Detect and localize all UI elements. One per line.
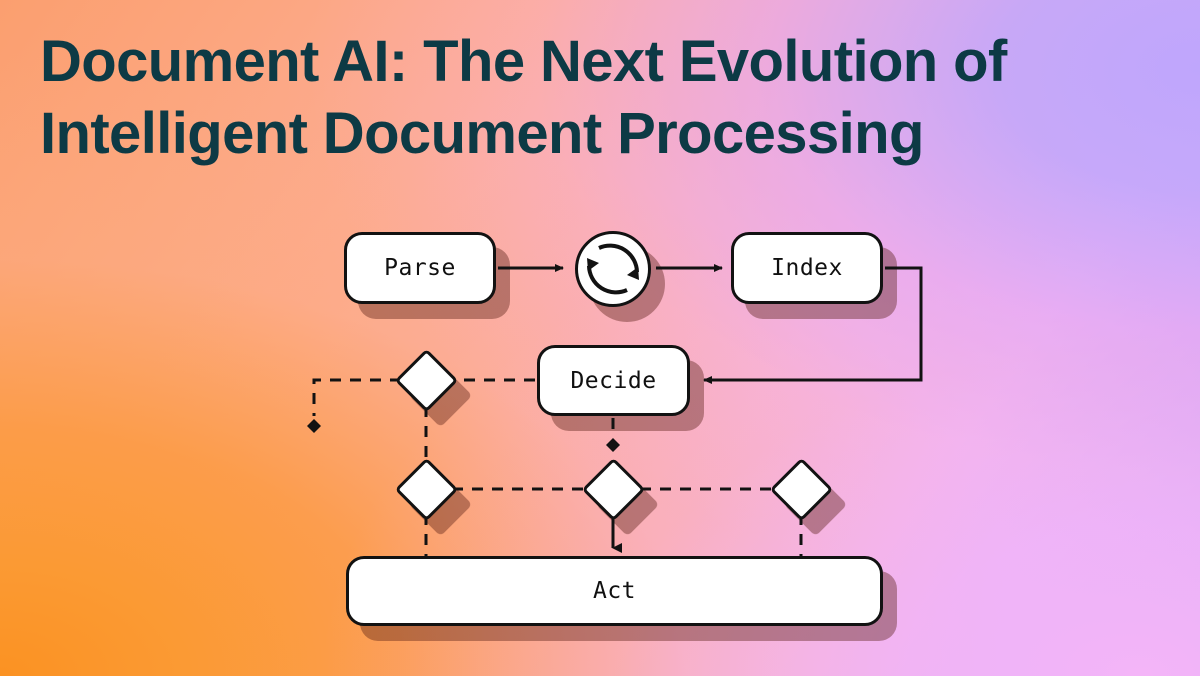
node-parse-label: Parse <box>384 255 456 281</box>
node-decide[interactable]: Decide <box>537 345 690 416</box>
node-act[interactable]: Act <box>346 556 883 626</box>
node-index[interactable]: Index <box>731 232 883 304</box>
workflow-diagram: Parse Index Decide Act <box>0 0 1200 676</box>
node-parse[interactable]: Parse <box>344 232 496 304</box>
edge-diamond1-to-endpoint <box>307 380 401 433</box>
slide-canvas: Document AI: The Next Evolution of Intel… <box>0 0 1200 676</box>
refresh-loop-icon <box>575 231 651 307</box>
edge-decide-down-marker <box>606 418 620 452</box>
node-decide-label: Decide <box>570 368 656 394</box>
node-act-label: Act <box>593 578 636 604</box>
node-index-label: Index <box>771 255 843 281</box>
